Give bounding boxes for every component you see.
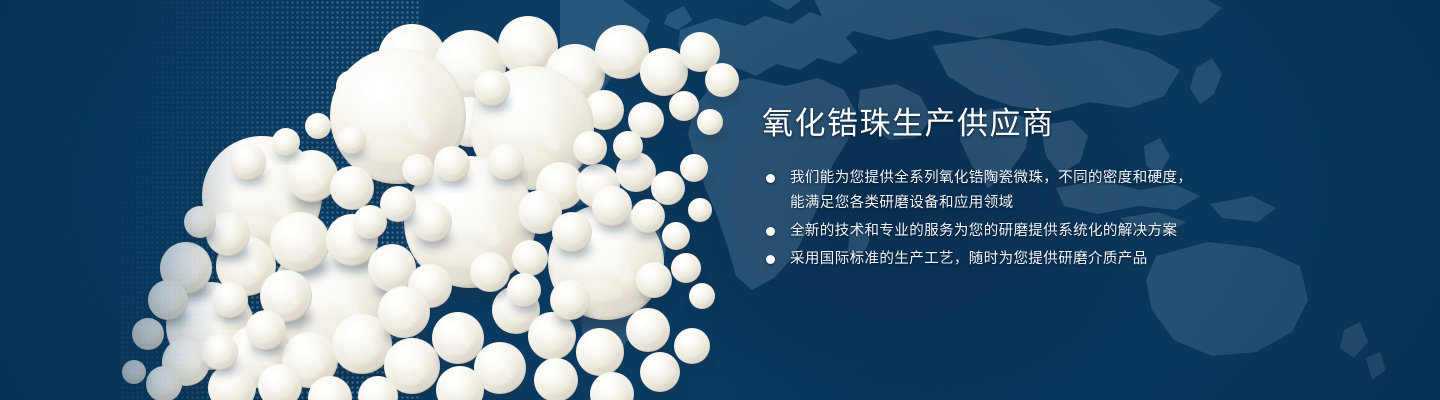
list-item: 全新的技术和专业的服务为您的研磨提供系统化的解决方案 xyxy=(762,219,1382,244)
bullet-dot-icon xyxy=(766,227,775,236)
feature-list: 我们能为您提供全系列氧化锆陶瓷微珠，不同的密度和硬度， 能满足您各类研磨设备和应… xyxy=(762,166,1382,272)
list-item: 采用国际标准的生产工艺，随时为您提供研磨介质产品 xyxy=(762,247,1382,272)
list-item-label: 全新的技术和专业的服务为您的研磨提供系统化的解决方案 xyxy=(790,219,1382,244)
list-item-label: 我们能为您提供全系列氧化锆陶瓷微珠，不同的密度和硬度， xyxy=(790,166,1382,191)
bullet-dot-icon xyxy=(766,255,775,264)
list-item-label-cont: 能满足您各类研磨设备和应用领域 xyxy=(790,191,1382,216)
bullet-dot-icon xyxy=(766,174,775,183)
hero-banner: 氧化锆珠生产供应商 我们能为您提供全系列氧化锆陶瓷微珠，不同的密度和硬度， 能满… xyxy=(0,0,1440,400)
banner-text-block: 氧化锆珠生产供应商 我们能为您提供全系列氧化锆陶瓷微珠，不同的密度和硬度， 能满… xyxy=(762,104,1382,288)
page-title: 氧化锆珠生产供应商 xyxy=(762,104,1382,144)
zirconia-beads-photo xyxy=(0,0,760,400)
list-item: 我们能为您提供全系列氧化锆陶瓷微珠，不同的密度和硬度， 能满足您各类研磨设备和应… xyxy=(762,166,1382,216)
list-item-label: 采用国际标准的生产工艺，随时为您提供研磨介质产品 xyxy=(790,247,1382,272)
